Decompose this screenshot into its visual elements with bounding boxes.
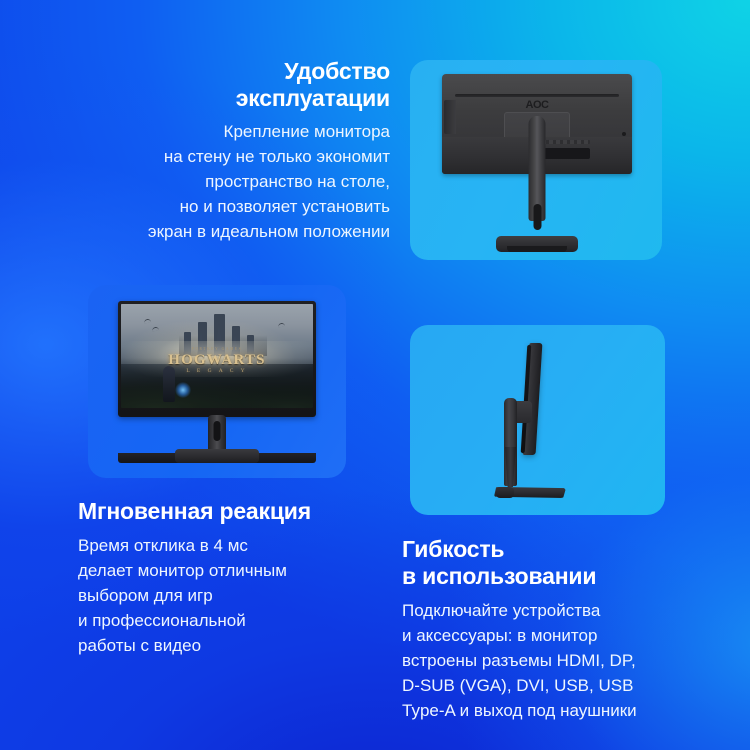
monitor-rear-groove: [455, 94, 619, 97]
monitor-bezel: PORTKEY GAMES HOGWARTS L E G A C Y: [118, 301, 316, 417]
heading-convenience-line2: эксплуатации: [30, 85, 390, 112]
aoc-logo-rear: AOC: [526, 99, 549, 111]
body-convenience: Крепление монитора на стену не только эк…: [30, 119, 390, 244]
monitor-front-image: PORTKEY GAMES HOGWARTS L E G A C Y AOC: [118, 301, 316, 463]
monitor-stand-base-front: [507, 246, 567, 252]
game-subtitle: L E G A C Y: [121, 368, 313, 374]
body-flexibility: Подключайте устройства и аксессуары: в м…: [402, 598, 747, 723]
body-convenience-line1: Крепление монитора: [30, 119, 390, 144]
heading-convenience-line1: Удобство: [30, 58, 390, 85]
body-flexibility-line3: встроены разъемы HDMI, DP,: [402, 648, 747, 673]
monitor-side-panel-tab: [444, 100, 456, 134]
body-response-line1: Время отклика в 4 мс: [78, 533, 390, 558]
heading-flexibility: Гибкость в использовании: [402, 536, 747, 590]
body-response: Время отклика в 4 мс делает монитор отли…: [78, 533, 390, 658]
promo-banner: Удобство эксплуатации Крепление монитора…: [0, 0, 750, 750]
game-art-bird: [151, 326, 158, 331]
game-title: HOGWARTS: [121, 353, 313, 368]
body-response-line2: делает монитор отличным: [78, 558, 390, 583]
body-convenience-line4: но и позволяет установить: [30, 194, 390, 219]
body-flexibility-line4: D-SUB (VGA), DVI, USB, USB: [402, 673, 747, 698]
monitor-vents: [542, 140, 590, 144]
body-flexibility-line1: Подключайте устройства: [402, 598, 747, 623]
body-convenience-line2: на стену не только экономит: [30, 144, 390, 169]
monitor-side-image: [488, 343, 588, 498]
monitor-screen: PORTKEY GAMES HOGWARTS L E G A C Y: [121, 304, 313, 408]
body-convenience-line5: экран в идеальном положении: [30, 219, 390, 244]
body-response-line3: выбором для игр: [78, 583, 390, 608]
monitor-stand-neck: [529, 116, 546, 221]
text-block-convenience: Удобство эксплуатации Крепление монитора…: [30, 58, 390, 244]
monitor-stand-base: [175, 449, 259, 463]
text-block-response: Мгновенная реакция Время отклика в 4 мс …: [78, 498, 390, 658]
heading-response: Мгновенная реакция: [78, 498, 390, 525]
body-flexibility-line5: Type-A и выход под наушники: [402, 698, 747, 723]
text-block-flexibility: Гибкость в использовании Подключайте уст…: [402, 536, 747, 723]
heading-flexibility-line1: Гибкость: [402, 536, 747, 563]
monitor-rear-view-card: AOC: [410, 60, 662, 260]
monitor-stand-base: [496, 236, 578, 252]
monitor-side-view-card: [410, 325, 665, 515]
power-led-icon: [622, 132, 626, 136]
game-art-magic-glow: [175, 382, 191, 398]
heading-convenience: Удобство эксплуатации: [30, 58, 390, 112]
heading-flexibility-line2: в использовании: [402, 563, 747, 590]
body-flexibility-line2: и аксессуары: в монитор: [402, 623, 747, 648]
heading-response-line1: Мгновенная реакция: [78, 498, 390, 525]
body-response-line5: работы с видео: [78, 633, 390, 658]
cable-management-slot: [214, 421, 221, 441]
game-title-pretitle: PORTKEY GAMES: [121, 347, 313, 351]
body-response-line4: и профессиональной: [78, 608, 390, 633]
monitor-stand-foot: [496, 487, 514, 498]
cable-management-slot: [533, 204, 541, 230]
monitor-front-view-card: PORTKEY GAMES HOGWARTS L E G A C Y AOC: [88, 285, 346, 478]
body-convenience-line3: пространство на столе,: [30, 169, 390, 194]
monitor-rear-image: AOC: [442, 74, 632, 252]
monitor-port-bay: [542, 148, 590, 159]
